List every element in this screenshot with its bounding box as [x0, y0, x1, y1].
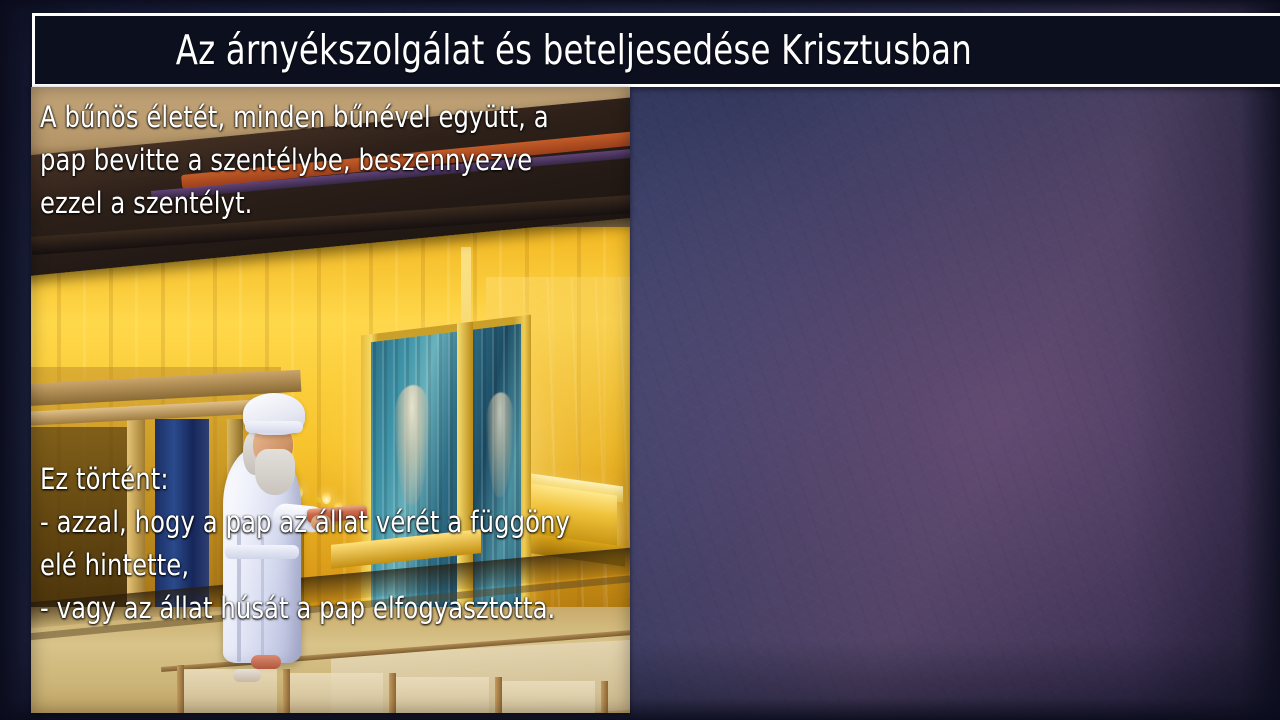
priest-sandal	[233, 669, 261, 682]
slide-title: Az árnyékszolgálat és beteljesedése Kris…	[176, 26, 1139, 74]
priest-turban-band	[245, 421, 303, 433]
fence-post	[177, 665, 184, 713]
presentation-slide: Az árnyékszolgálat és beteljesedése Kris…	[0, 0, 1280, 720]
slide-title-bar: Az árnyékszolgálat és beteljesedése Kris…	[32, 13, 1280, 87]
caption-top-text: A bűnös életét, minden bűnével együtt, a…	[40, 96, 598, 225]
fence-post	[389, 673, 396, 713]
fence-post	[601, 681, 608, 713]
fence-post	[495, 677, 502, 713]
priest-sandal	[251, 655, 281, 669]
caption-bottom-text: Ez történt: - azzal, hogy a pap az állat…	[40, 458, 598, 630]
fence-panel	[499, 681, 595, 713]
fence-panel	[393, 677, 489, 713]
